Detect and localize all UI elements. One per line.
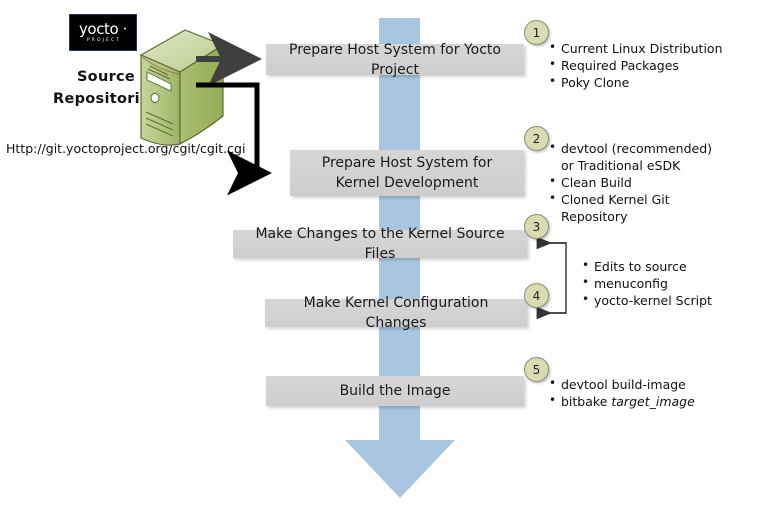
process-box-step-3[interactable]: Make Changes to the Kernel Source Files (233, 230, 527, 258)
step-number-4: 4 (524, 283, 549, 308)
step-5-bullets: devtool build-image bitbake target_image (549, 376, 739, 410)
flow-arrowhead-icon (345, 440, 455, 498)
process-box-step-4[interactable]: Make Kernel Configuration Changes (265, 299, 527, 327)
bitbake-command: bitbake (561, 394, 611, 409)
list-item: menuconfig (582, 275, 757, 292)
list-item: Cloned Kernel Git Repository (549, 191, 724, 225)
list-item: Edits to source (582, 258, 757, 275)
step-2-bullets: devtool (recommended) or Traditional eSD… (549, 140, 724, 225)
process-box-step-5[interactable]: Build the Image (266, 376, 524, 406)
list-item: yocto-kernel Script (582, 292, 757, 309)
step-number-3: 3 (524, 214, 549, 239)
step-number-5: 5 (524, 357, 549, 382)
process-box-step-1[interactable]: Prepare Host System for Yocto Project (266, 44, 524, 75)
step-number-2: 2 (524, 126, 549, 151)
steps-3-4-shared-bullets: Edits to source menuconfig yocto-kernel … (582, 258, 757, 309)
server-tower-icon (133, 28, 225, 146)
list-item: Required Packages (549, 57, 759, 74)
diagram-canvas: yocto · PROJECT Source Repositories Http… (0, 0, 769, 517)
list-item: devtool (recommended) or Traditional eSD… (549, 140, 724, 174)
yocto-project-logo: yocto · PROJECT (69, 14, 137, 51)
step-number-1: 1 (524, 20, 549, 45)
bitbake-target-placeholder: target_image (611, 394, 694, 409)
list-item: devtool build-image (549, 376, 739, 393)
step-1-bullets: Current Linux Distribution Required Pack… (549, 40, 759, 91)
yocto-logo-wordmark: yocto · (79, 22, 127, 36)
process-box-step-2[interactable]: Prepare Host System for Kernel Developme… (290, 150, 524, 196)
yocto-logo-subtext: PROJECT (87, 37, 121, 44)
list-item: Current Linux Distribution (549, 40, 759, 57)
list-item: bitbake target_image (549, 393, 739, 410)
list-item: Clean Build (549, 174, 724, 191)
list-item: Poky Clone (549, 74, 759, 91)
